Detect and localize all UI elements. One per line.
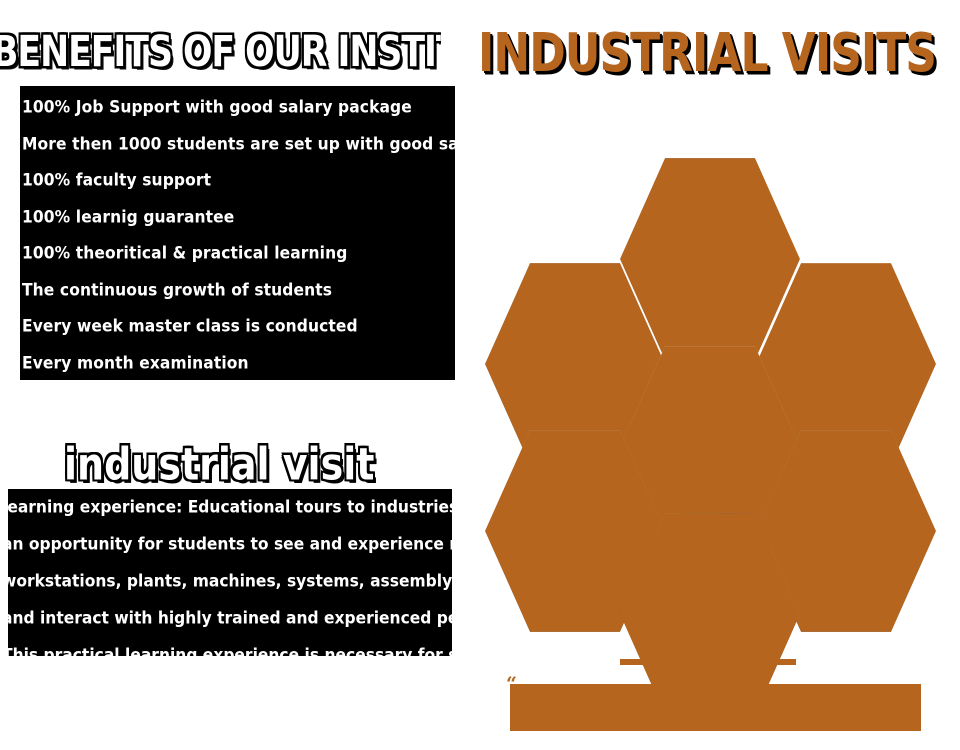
benefit-item: 100% faculty support: [22, 161, 455, 200]
benefits-panel: 100% Job Support with good salary packag…: [20, 86, 455, 380]
description-line: workstations, plants, machines, systems,…: [8, 562, 452, 601]
benefit-item: 100% theoritical & practical learning: [22, 234, 455, 273]
quote-text: [510, 684, 921, 731]
industrial-visit-subheading: industrial visit: [64, 438, 394, 490]
benefit-item: More then 1000 students are set up with …: [22, 124, 455, 163]
benefit-item: 100% Job Support with good salary packag…: [22, 88, 455, 127]
description-lines: learning experience: Educational tours t…: [8, 489, 452, 656]
description-line: and interact with highly trained and exp…: [8, 599, 452, 638]
description-line: This practical learning experience is ne…: [8, 636, 452, 656]
quote-banner: [510, 684, 921, 731]
left-column: BENEFITS OF OUR INSTITUTE 100% Job Suppo…: [0, 0, 470, 750]
industrial-visit-description-panel: learning experience: Educational tours t…: [8, 489, 452, 656]
benefit-item: Every week master class is conducted: [22, 307, 455, 346]
accent-tab-strip: [620, 659, 796, 665]
benefit-item: 100% learnig guarantee: [22, 197, 455, 236]
description-line: an opportunity for students to see and e…: [8, 525, 452, 564]
brochure-page: BENEFITS OF OUR INSTITUTE 100% Job Suppo…: [0, 0, 960, 750]
hexagon-photo-collage: [475, 155, 955, 665]
benefit-item: Every month examination: [22, 343, 455, 380]
benefits-heading: BENEFITS OF OUR INSTITUTE: [0, 27, 441, 77]
benefit-item: The continuous growth of students: [22, 270, 455, 309]
benefits-list: 100% Job Support with good salary packag…: [22, 89, 455, 380]
right-column: INDUSTRIAL VISITS: [470, 0, 960, 750]
page-title: INDUSTRIAL VISITS: [478, 22, 958, 84]
description-line: learning experience: Educational tours t…: [8, 489, 452, 527]
